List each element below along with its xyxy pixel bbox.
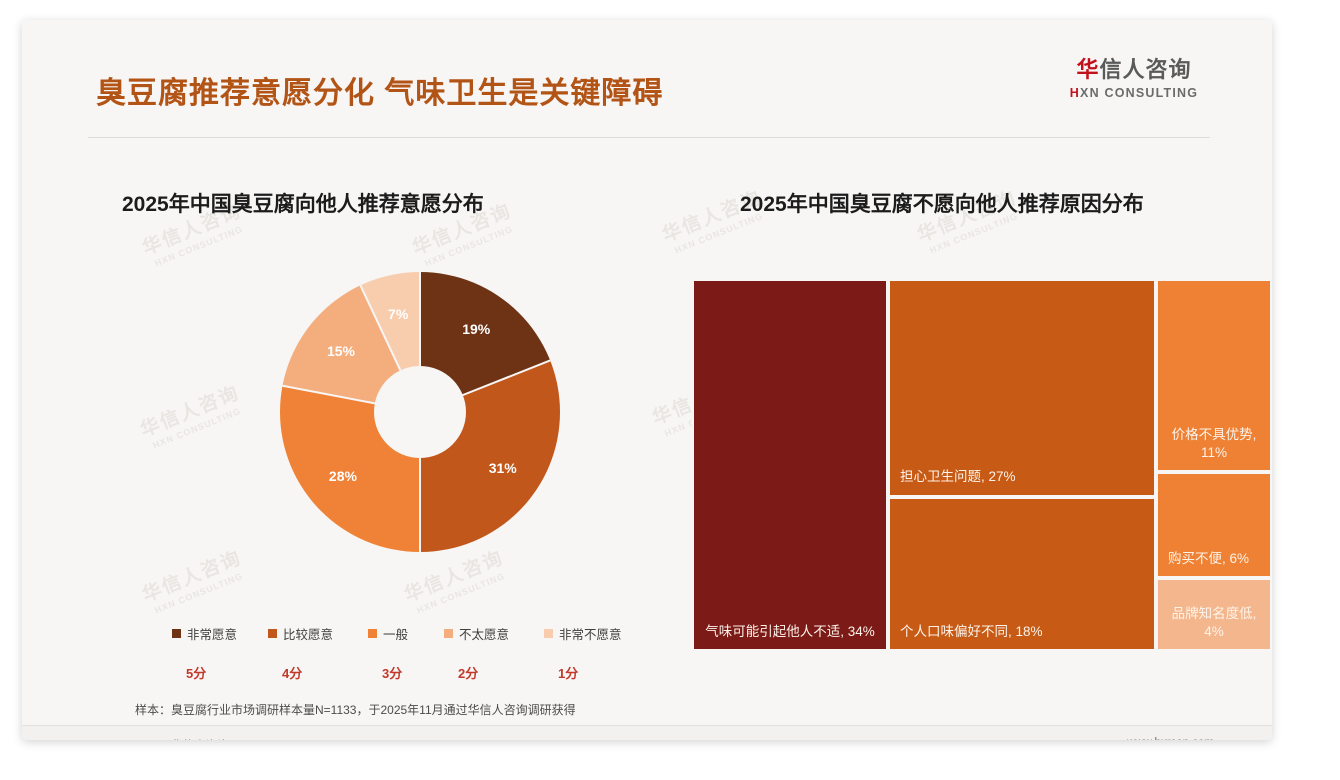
- slide-canvas: 臭豆腐推荐意愿分化 气味卫生是关键障碍 华信人咨询 HXN CONSULTING…: [22, 20, 1272, 740]
- logo-chinese: 华信人咨询: [1044, 58, 1224, 82]
- donut-slice-label: 19%: [462, 321, 490, 337]
- treemap-cell[interactable]: 购买不便, 6%: [1156, 472, 1272, 578]
- donut-slice-label: 15%: [327, 343, 355, 359]
- treemap-cell-label: 价格不具优势, 11%: [1164, 426, 1264, 462]
- donut-slice-divider: [419, 272, 421, 412]
- donut-legend: 非常愿意比较愿意一般不太愿意非常不愿意: [172, 624, 642, 644]
- page-title: 臭豆腐推荐意愿分化 气味卫生是关键障碍: [96, 68, 663, 112]
- logo-chinese-rest: 信人咨询: [1100, 57, 1192, 82]
- watermark: 华信人咨询 HXN CONSULTING: [401, 547, 511, 619]
- donut-slice-label: 31%: [489, 460, 517, 476]
- legend-label: 非常愿意: [187, 624, 237, 643]
- logo-english-accent: H: [1070, 86, 1080, 100]
- logo-english: HXN CONSULTING: [1044, 86, 1224, 100]
- watermark-line1: 华信人咨询: [137, 382, 243, 443]
- watermark: 华信人咨询 HXN CONSULTING: [137, 382, 247, 454]
- treemap-cell-label: 品牌知名度低, 4%: [1164, 605, 1264, 641]
- right-chart-title: 2025年中国臭豆腐不愿向他人推荐原因分布: [740, 188, 1144, 218]
- donut-slice-divider: [419, 412, 421, 552]
- legend-color-swatch: [544, 629, 553, 638]
- watermark-line1: 华信人咨询: [139, 547, 245, 608]
- watermark-line2: HXN CONSULTING: [410, 569, 512, 619]
- copyright-text: ©2026.1 HXR华信人咨询: [100, 737, 229, 740]
- watermark-line2: HXN CONSULTING: [418, 222, 520, 272]
- legend-item[interactable]: 不太愿意: [444, 624, 509, 643]
- legend-score: 5分: [186, 663, 206, 682]
- legend-label: 比较愿意: [283, 624, 333, 643]
- treemap-chart: 气味可能引起他人不适, 34%担心卫生问题, 27%个人口味偏好不同, 18%价…: [692, 279, 1272, 651]
- watermark-line1: 华信人咨询: [401, 547, 507, 608]
- treemap-cell[interactable]: 担心卫生问题, 27%: [888, 279, 1156, 497]
- legend-item[interactable]: 非常愿意: [172, 624, 237, 643]
- watermark-line2: HXN CONSULTING: [146, 404, 248, 454]
- legend-item[interactable]: 一般: [368, 624, 408, 643]
- treemap-cell-label: 购买不便, 6%: [1168, 550, 1262, 568]
- legend-score: 1分: [558, 663, 578, 682]
- legend-color-swatch: [172, 629, 181, 638]
- sample-note: 样本：臭豆腐行业市场调研样本量N=1133，于2025年11月通过华信人咨询调研…: [135, 701, 576, 718]
- watermark-line2: HXN CONSULTING: [148, 569, 250, 619]
- legend-item[interactable]: 比较愿意: [268, 624, 333, 643]
- brand-logo: 华信人咨询 HXN CONSULTING: [1044, 58, 1224, 100]
- legend-score: 3分: [382, 663, 402, 682]
- header-divider: [88, 137, 1210, 138]
- legend-item[interactable]: 非常不愿意: [544, 624, 622, 643]
- legend-color-swatch: [444, 629, 453, 638]
- treemap-cell[interactable]: 气味可能引起他人不适, 34%: [692, 279, 888, 651]
- treemap-cell-label: 个人口味偏好不同, 18%: [900, 623, 1146, 641]
- legend-score: 2分: [458, 663, 478, 682]
- logo-english-rest: XN CONSULTING: [1080, 86, 1198, 100]
- legend-label: 非常不愿意: [559, 624, 622, 643]
- score-row: 5分4分3分2分1分: [172, 663, 642, 683]
- slide-header: 臭豆腐推荐意愿分化 气味卫生是关键障碍 华信人咨询 HXN CONSULTING: [22, 20, 1272, 128]
- treemap-cell[interactable]: 品牌知名度低, 4%: [1156, 578, 1272, 651]
- treemap-cell[interactable]: 价格不具优势, 11%: [1156, 279, 1272, 472]
- slide-footer: ©2026.1 HXR华信人咨询 www.hxrcon.com: [22, 726, 1272, 740]
- legend-color-swatch: [268, 629, 277, 638]
- watermark-line2: HXN CONSULTING: [148, 222, 250, 272]
- treemap-cell-label: 担心卫生问题, 27%: [900, 468, 1146, 486]
- left-chart-title: 2025年中国臭豆腐向他人推荐意愿分布: [122, 188, 484, 218]
- treemap-cell[interactable]: 个人口味偏好不同, 18%: [888, 497, 1156, 651]
- legend-color-swatch: [368, 629, 377, 638]
- donut-slice-label: 7%: [388, 306, 408, 322]
- legend-label: 不太愿意: [459, 624, 509, 643]
- legend-score: 4分: [282, 663, 302, 682]
- watermark: 华信人咨询 HXN CONSULTING: [139, 547, 249, 619]
- legend-label: 一般: [383, 624, 408, 643]
- logo-chinese-accent: 华: [1076, 57, 1099, 82]
- donut-slice-label: 28%: [329, 468, 357, 484]
- website-link[interactable]: www.hxrcon.com: [1127, 737, 1214, 740]
- treemap-cell-label: 气味可能引起他人不适, 34%: [700, 623, 880, 641]
- donut-chart: 19%31%28%15%7%: [280, 272, 560, 552]
